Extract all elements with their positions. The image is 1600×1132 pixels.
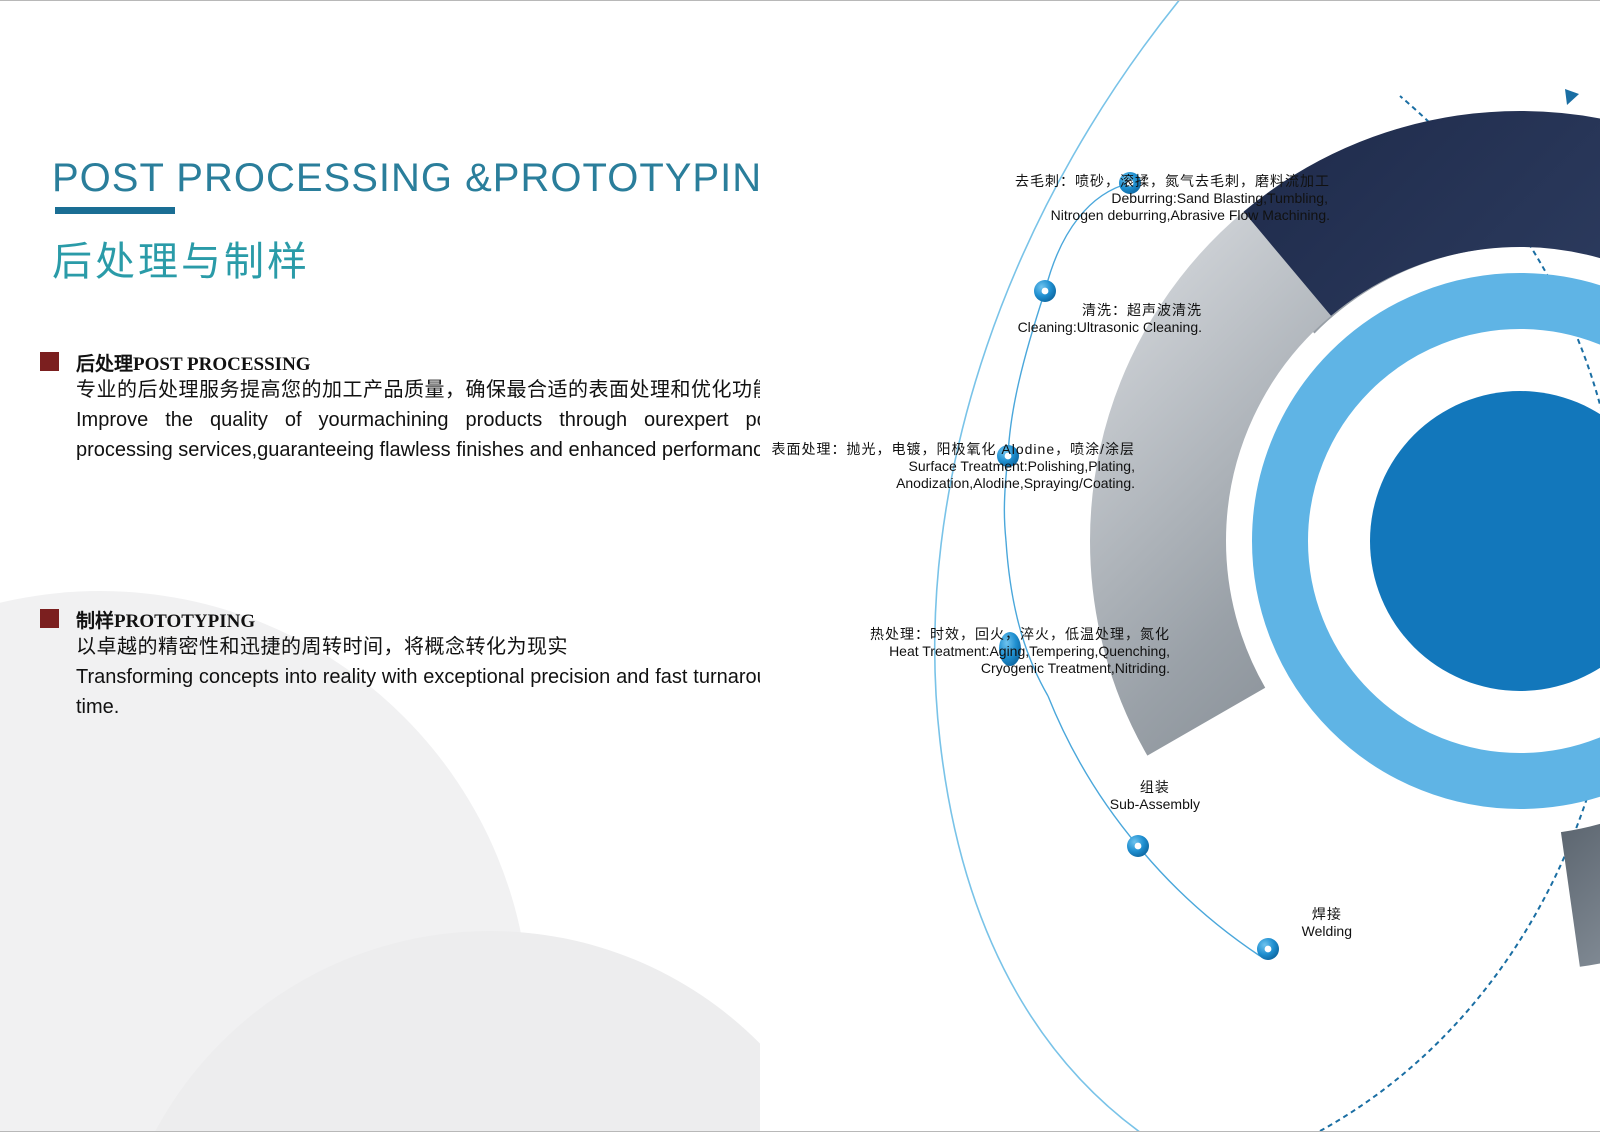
callout-cleaning: 清洗：超声波清洗 Cleaning:Ultrasonic Cleaning. (1018, 302, 1202, 336)
page-title-english: POST PROCESSING &PROTOTYPING (52, 156, 794, 201)
section-heading-english: POST PROCESSING (133, 354, 311, 375)
callout-deburring-english-2: Nitrogen deburring,Abrasive Flow Machini… (1015, 207, 1330, 224)
ring-left-mask (760, 0, 912, 1132)
section-paragraph-english: Improve the quality of yourmachining pro… (40, 405, 800, 465)
callout-sub-assembly: 组装 Sub-Assembly (1110, 779, 1200, 813)
callout-surface-treatment: 表面处理：抛光，电镀，阳极氧化 Alodine，喷涂/涂层 Surface Tr… (772, 441, 1135, 492)
callout-assembly-english-1: Sub-Assembly (1110, 796, 1200, 813)
callout-welding-chinese: 焊接 (1302, 906, 1352, 923)
square-bullet-icon (40, 352, 59, 371)
process-wheel-graphic (760, 0, 1600, 1132)
section-paragraph-chinese: 以卓越的精密性和迅捷的周转时间，将概念转化为现实 (40, 632, 800, 662)
callout-deburring: 去毛刺：喷砂，滚揉，氮气去毛刺，磨料流加工 Deburring:Sand Bla… (1015, 173, 1330, 224)
title-underline-rule (55, 207, 175, 214)
section-heading: 后处理POST PROCESSING (40, 349, 800, 375)
callout-heat-chinese: 热处理：时效，回火，淬火，低温处理，氮化 (870, 626, 1170, 643)
callout-heat-treatment: 热处理：时效，回火，淬火，低温处理，氮化 Heat Treatment:Agin… (870, 626, 1170, 677)
node-welding-center (1265, 946, 1272, 953)
connector-welding (1138, 846, 1260, 956)
section-prototyping: 制样PROTOTYPING 以卓越的精密性和迅捷的周转时间，将概念转化为现实 T… (40, 606, 800, 722)
callout-deburring-chinese: 去毛刺：喷砂，滚揉，氮气去毛刺，磨料流加工 (1015, 173, 1330, 190)
node-assembly-center (1135, 843, 1142, 850)
callout-cleaning-chinese: 清洗：超声波清洗 (1018, 302, 1202, 319)
slide-canvas: POST PROCESSING &PROTOTYPING 后处理与制样 后处理P… (0, 0, 1600, 1132)
section-post-processing: 后处理POST PROCESSING 专业的后处理服务提高您的加工产品质量，确保… (40, 349, 800, 465)
callout-heat-english-1: Heat Treatment:Aging,Tempering,Quenching… (870, 643, 1170, 660)
callout-surface-english-1: Surface Treatment:Polishing,Plating, (772, 458, 1135, 475)
section-paragraph-chinese: 专业的后处理服务提高您的加工产品质量，确保最合适的表面处理和优化功能 (40, 375, 800, 405)
page-title-chinese: 后处理与制样 (52, 229, 310, 287)
section-heading-chinese: 制样 (76, 611, 114, 632)
callout-deburring-english-1: Deburring:Sand Blasting,Tumbling, (1015, 190, 1330, 207)
section-heading-english: PROTOTYPING (114, 611, 255, 632)
left-content-column: POST PROCESSING &PROTOTYPING 后处理与制样 后处理P… (0, 1, 860, 1132)
callout-surface-english-2: Anodization,Alodine,Spraying/Coating. (772, 475, 1135, 492)
callout-welding-english-1: Welding (1302, 923, 1352, 940)
callout-surface-chinese: 表面处理：抛光，电镀，阳极氧化 Alodine，喷涂/涂层 (772, 441, 1135, 458)
callout-heat-english-2: Cryogenic Treatment,Nitriding. (870, 660, 1170, 677)
guide-arc-dotted-arrowhead (1565, 89, 1579, 105)
section-heading: 制样PROTOTYPING (40, 606, 800, 632)
callout-cleaning-english-1: Cleaning:Ultrasonic Cleaning. (1018, 319, 1202, 336)
section-heading-chinese: 后处理 (76, 354, 133, 375)
node-cleaning-center (1042, 288, 1049, 295)
section-paragraph-english: Transforming concepts into reality with … (40, 662, 800, 722)
callout-welding: 焊接 Welding (1302, 906, 1352, 940)
square-bullet-icon (40, 609, 59, 628)
callout-assembly-chinese: 组装 (1110, 779, 1200, 796)
ring-inner-disc (1370, 391, 1600, 691)
connector-assembly (1048, 696, 1138, 846)
